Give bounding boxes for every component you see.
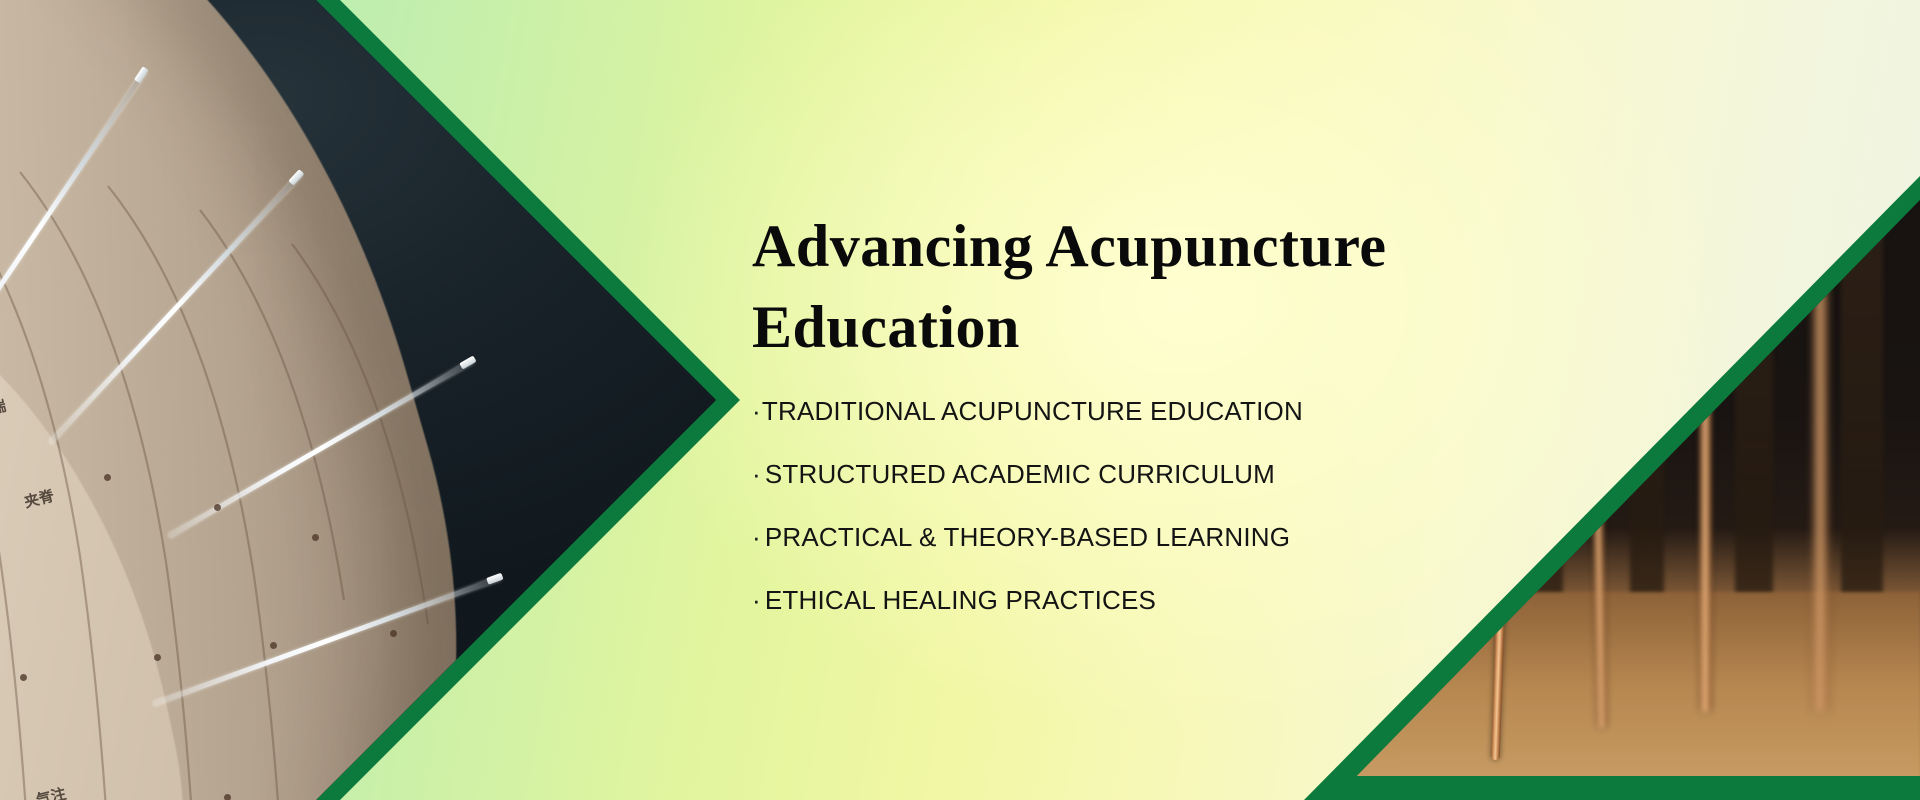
hero-banner: 劳宫 大椎 定喘 肩中俞 肩外俞 大杼 陶道 夹脊 曲垣 风门 附分 气注 魄户…: [0, 0, 1920, 800]
list-item: · STRUCTURED ACADEMIC CURRICULUM: [752, 459, 1452, 490]
list-item: · ETHICAL HEALING PRACTICES: [752, 585, 1452, 616]
list-item-label: PRACTICAL & THEORY-BASED LEARNING: [765, 522, 1290, 553]
copper-needle: [1814, 248, 1827, 712]
banner-text-block: Advancing Acupuncture Education · TRADIT…: [752, 206, 1452, 648]
feature-list: · TRADITIONAL ACUPUNCTURE EDUCATION · ST…: [752, 396, 1452, 616]
left-acupuncture-model-image: 劳宫 大椎 定喘 肩中俞 肩外俞 大杼 陶道 夹脊 曲垣 风门 附分 气注 魄户…: [0, 0, 716, 800]
acupoint-labels: 劳宫 大椎 定喘 肩中俞 肩外俞 大杼 陶道 夹脊 曲垣 风门 附分 气注 魄户…: [0, 0, 716, 800]
copper-needle: [1700, 280, 1711, 712]
list-item: · PRACTICAL & THEORY-BASED LEARNING: [752, 522, 1452, 553]
list-item-label: STRUCTURED ACADEMIC CURRICULUM: [765, 459, 1275, 490]
bullet-marker: ·: [752, 459, 761, 490]
bullet-marker: ·: [752, 522, 761, 553]
list-item: · TRADITIONAL ACUPUNCTURE EDUCATION: [752, 396, 1452, 427]
bullet-marker: ·: [752, 585, 761, 616]
list-item-label: TRADITIONAL ACUPUNCTURE EDUCATION: [762, 396, 1303, 427]
bullet-marker: ·: [752, 396, 761, 427]
list-item-label: ETHICAL HEALING PRACTICES: [765, 585, 1156, 616]
page-title: Advancing Acupuncture Education: [752, 206, 1392, 368]
